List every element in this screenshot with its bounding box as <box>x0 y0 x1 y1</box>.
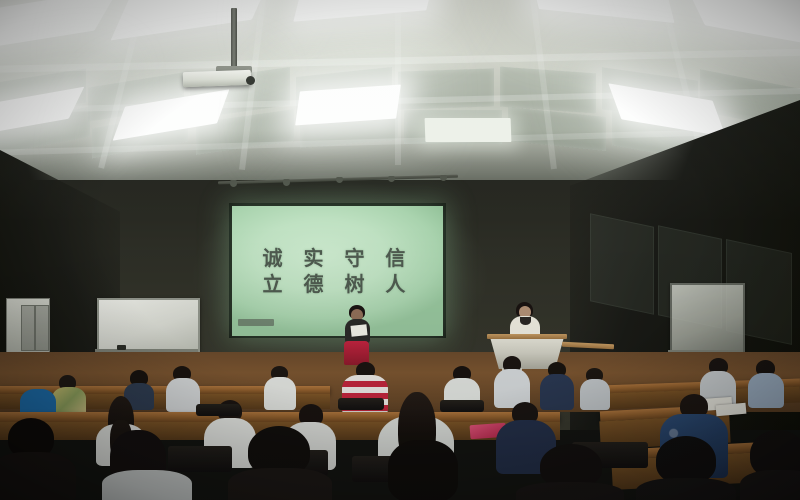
projector-mount-pole <box>231 8 237 70</box>
ceiling-light-panel <box>111 0 272 40</box>
student-speaker <box>337 305 377 365</box>
list-item <box>166 366 200 412</box>
speaker-paper <box>350 324 367 337</box>
ceiling-coffer <box>508 107 606 151</box>
attendee-torso <box>636 478 736 500</box>
list-item <box>52 375 86 415</box>
desk-row-middle <box>0 412 560 422</box>
list-item <box>0 418 76 500</box>
list-item <box>580 368 610 410</box>
ceiling-coffer <box>398 68 494 109</box>
ceiling-light-panel <box>683 0 800 51</box>
attendee-torso <box>748 373 784 408</box>
ceiling-beam <box>395 0 401 165</box>
attendee-torso <box>516 482 624 500</box>
ceiling-light-panel <box>425 118 512 142</box>
attendee-hair <box>656 436 716 484</box>
attendee-torso <box>740 470 800 500</box>
chair-back <box>440 400 484 412</box>
chair-back <box>196 404 240 416</box>
wall-glass-panel <box>590 213 654 315</box>
right-whiteboard <box>670 283 745 354</box>
track-light-fixture <box>230 180 237 187</box>
list-item <box>228 426 332 500</box>
cabinet-door <box>35 305 49 351</box>
ceiling-light-panel <box>293 0 436 22</box>
cabinet-door <box>21 305 35 351</box>
attendee-torso <box>52 387 86 415</box>
track-light-fixture <box>283 179 290 186</box>
attendee-torso <box>102 470 192 500</box>
list-item <box>494 356 530 408</box>
slide-line-1: 诚 实 守 信 <box>232 242 443 271</box>
chair-back <box>338 398 384 410</box>
attendee-torso <box>228 468 332 500</box>
list-item <box>96 430 192 500</box>
list-item <box>370 440 480 500</box>
list-item <box>740 430 800 500</box>
list-item <box>748 360 784 408</box>
host-collar <box>520 317 531 325</box>
lecture-hall-photo: 诚 实 守 信 立 德 树 人 <box>0 0 800 500</box>
projector-lens <box>246 76 255 85</box>
slide-line-2: 立 德 树 人 <box>232 268 443 297</box>
attendee-torso <box>580 379 610 410</box>
slide-corner-tag <box>238 319 274 326</box>
ceiling-light-panel <box>528 0 675 23</box>
list-item <box>636 436 736 500</box>
whiteboard-marker <box>117 345 126 350</box>
lectern-top <box>487 334 567 339</box>
attendee-long-hair <box>388 440 458 500</box>
attendee-torso <box>166 378 200 412</box>
ceiling-light-panel <box>0 0 119 53</box>
projector <box>183 70 251 87</box>
attendee-torso <box>0 452 76 500</box>
left-whiteboard <box>97 298 200 353</box>
list-item <box>516 444 624 500</box>
